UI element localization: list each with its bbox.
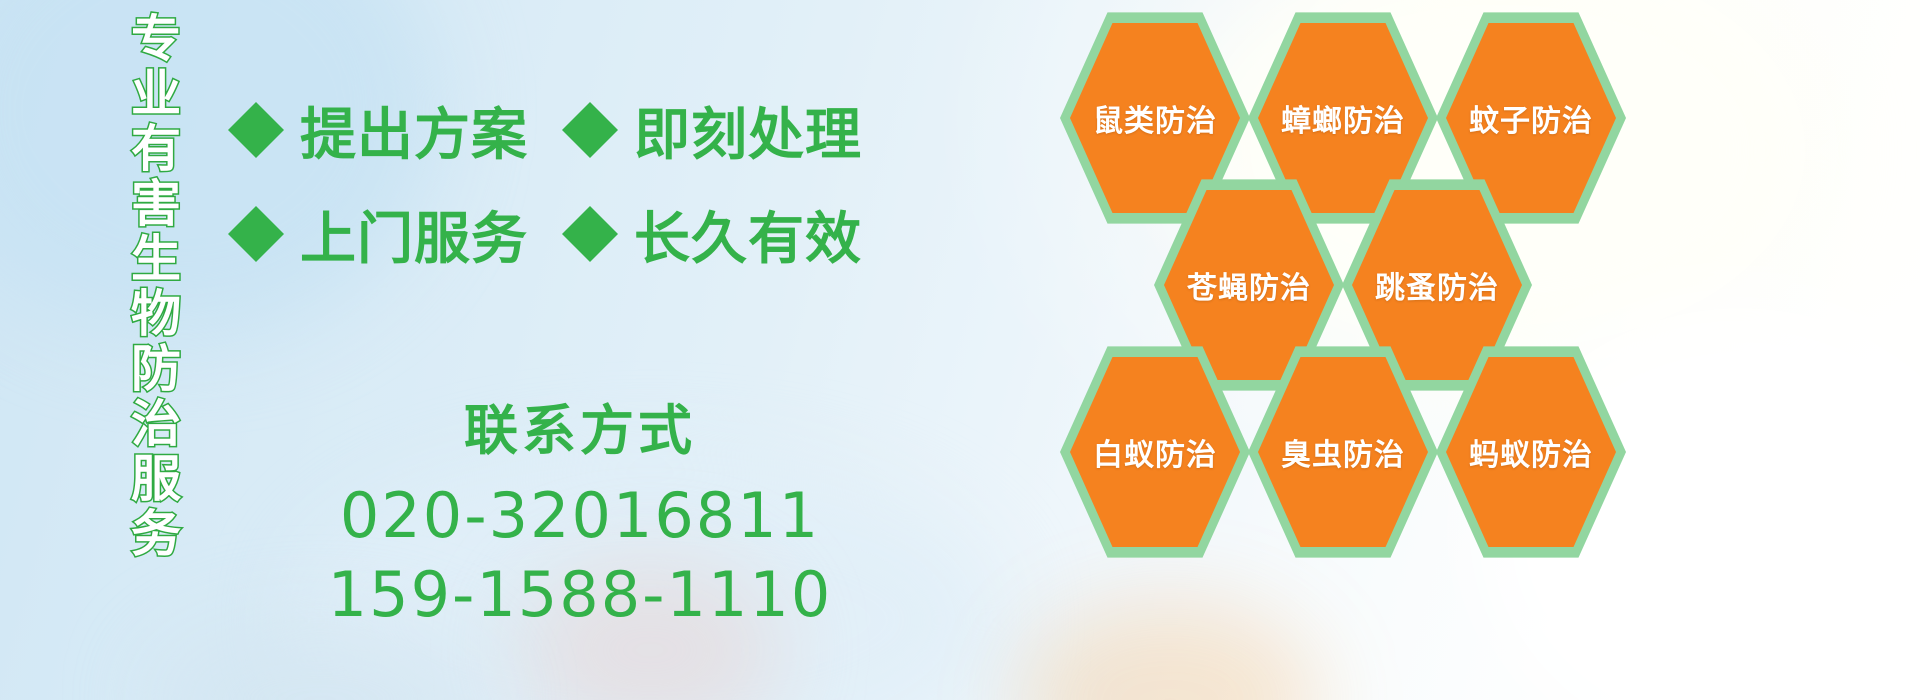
vertical-title: 专 业 有 害 生 物 防 治 服 务 [108,14,204,559]
feature-label: 上门服务 [300,194,528,275]
vertical-title-char: 务 [131,509,181,559]
feature-row: 上门服务 长久有效 [228,182,868,286]
vertical-title-char: 服 [131,454,181,504]
phone-number-landline[interactable]: 020-32016811 [300,476,860,555]
vertical-title-char: 治 [131,399,181,449]
diamond-bullet-icon [562,178,618,234]
promo-banner: 专 业 有 害 生 物 防 治 服 务 提出方案 即刻处理 上门服务 [0,0,1920,700]
vertical-title-char: 害 [131,179,181,229]
vertical-title-char: 生 [131,234,181,284]
service-label: 臭虫防治 [1281,430,1405,474]
feature-label: 长久有效 [634,194,862,275]
feature-item: 提出方案 [228,90,528,171]
service-label: 白蚁防治 [1093,430,1217,474]
service-label: 蚂蚁防治 [1469,430,1593,474]
service-label: 蟑螂防治 [1281,96,1405,140]
feature-item: 长久有效 [562,194,862,275]
feature-item: 即刻处理 [562,90,862,171]
service-hex-inner: 蚂蚁防治 [1446,353,1616,551]
vertical-title-char: 物 [131,289,181,339]
phone-number-mobile[interactable]: 159-1588-1110 [300,555,860,634]
feature-row: 提出方案 即刻处理 [228,78,868,182]
contact-block: 联系方式 020-32016811 159-1588-1110 [300,400,860,635]
contact-heading: 联系方式 [300,400,860,462]
service-label: 苍蝇防治 [1187,263,1311,307]
feature-label: 提出方案 [300,90,528,171]
diamond-bullet-icon [562,74,618,130]
service-label: 鼠类防治 [1093,96,1217,140]
vertical-title-char: 有 [131,124,181,174]
diamond-bullet-icon [228,74,284,130]
service-hex-inner: 白蚁防治 [1070,353,1240,551]
vertical-title-char: 防 [131,344,181,394]
service-hex-inner: 臭虫防治 [1258,353,1428,551]
diamond-bullet-icon [228,178,284,234]
feature-label: 即刻处理 [634,90,862,171]
feature-item: 上门服务 [228,194,528,275]
service-label: 跳蚤防治 [1375,263,1499,307]
vertical-title-char: 业 [131,69,181,119]
service-honeycomb: 鼠类防治 蟑螂防治 蚊子防治 苍蝇防治 跳蚤防治 白蚁防治 [1060,0,1760,700]
vertical-title-char: 专 [131,14,181,64]
feature-list: 提出方案 即刻处理 上门服务 长久有效 [228,78,868,286]
service-label: 蚊子防治 [1469,96,1593,140]
